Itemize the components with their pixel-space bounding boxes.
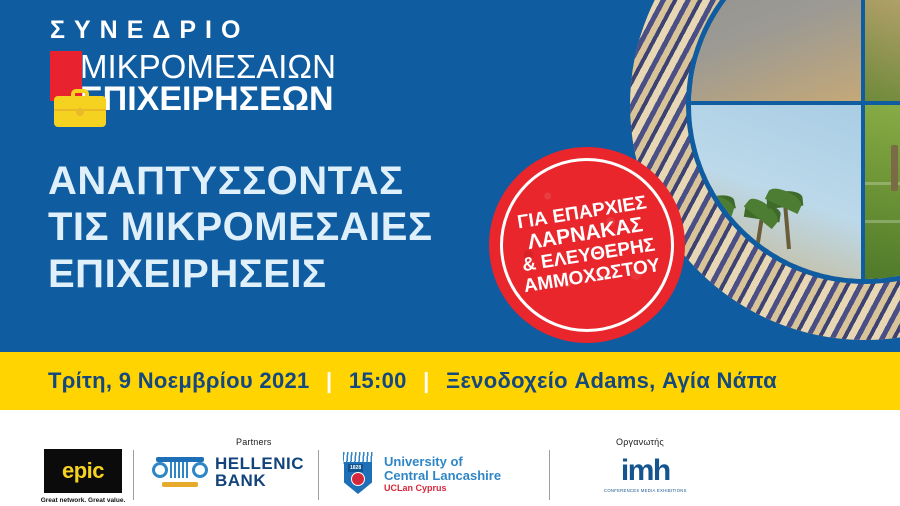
event-details-text: Τρίτη, 9 Νοεμβρίου 2021 | 15:00 | Ξενοδο…	[48, 368, 777, 394]
event-details-bar: Τρίτη, 9 Νοεμβρίου 2021 | 15:00 | Ξενοδο…	[0, 352, 900, 410]
partners-label: Partners	[236, 437, 272, 447]
uclan-line-3: UCLan Cyprus	[384, 484, 501, 494]
palm-trees-sky-photo	[691, 105, 865, 279]
uclan-crest-year: 1828	[348, 464, 363, 472]
hellenic-bank-logo[interactable]: HELLENIC BANK	[152, 455, 304, 489]
conference-logo: ΣΥΝΕΔΡΙΟ ΜΙΚΡΟΜΕΣΑΙΩΝ ΕΠΙΧΕΙΡΗΣΕΩΝ	[50, 18, 336, 116]
epic-tagline: Great network. Great value.	[39, 497, 127, 504]
briefcase-icon	[54, 89, 106, 127]
collage-inner-ring	[686, 0, 900, 284]
footer-divider	[549, 450, 550, 500]
event-poster: ΣΥΝΕΔΡΙΟ ΜΙΚΡΟΜΕΣΑΙΩΝ ΕΠΙΧΕΙΡΗΣΕΩΝ ΑΝΑΠΤ…	[0, 0, 900, 506]
sponsor-footer: Partners Οργανωτής epic Great network. G…	[0, 410, 900, 506]
green-field-fence-photo	[865, 105, 900, 279]
badge-text: ΓΙΑ ΕΠΑΡΧΙΕΣ ΛΑΡΝΑΚΑΣ & ΕΛΕΥΘΕΡΗΣ ΑΜΜΟΧΩ…	[475, 133, 699, 357]
imh-logo[interactable]: imh CONFERENCES MEDIA EXHIBITIONS	[604, 456, 687, 493]
headline-line-2: ΤΙΣ ΜΙΚΡΟΜΕΣΑΙΕΣ	[48, 204, 432, 250]
grey-sky-sand-photo	[691, 0, 865, 105]
page-title: ΑΝΑΠΤΥΣΣΟΝΤΑΣ ΤΙΣ ΜΙΚΡΟΜΕΣΑΙΕΣ ΕΠΙΧΕΙΡΗΣ…	[48, 158, 432, 297]
organizer-label: Οργανωτής	[616, 437, 664, 447]
logo-line-1: ΜΙΚΡΟΜΕΣΑΙΩΝ	[80, 51, 336, 82]
rose-icon	[351, 472, 365, 486]
headline-line-1: ΑΝΑΠΤΥΣΣΟΝΤΑΣ	[48, 158, 432, 204]
windmill-ruins-photo	[865, 0, 900, 105]
region-badge: ΓΙΑ ΕΠΑΡΧΙΕΣ ΛΑΡΝΑΚΑΣ & ΕΛΕΥΘΕΡΗΣ ΑΜΜΟΧΩ…	[489, 147, 685, 343]
uclan-line-2: Central Lancashire	[384, 469, 501, 483]
uclan-line-1: University of	[384, 455, 501, 469]
headline-line-3: ΕΠΙΧΕΙΡΗΣΕΙΣ	[48, 251, 432, 297]
logo-line-2: ΕΠΙΧΕΙΡΗΣΕΩΝ	[80, 82, 336, 116]
imh-tagline: CONFERENCES MEDIA EXHIBITIONS	[604, 488, 687, 494]
hellenic-bank-line-1: HELLENIC	[215, 455, 304, 472]
event-time: 15:00	[349, 368, 407, 393]
details-separator-1: |	[326, 368, 332, 393]
event-date: Τρίτη, 9 Νοεμβρίου 2021	[48, 368, 310, 393]
ionic-column-icon	[152, 457, 208, 487]
imh-wordmark: imh	[604, 456, 687, 486]
uclan-logo[interactable]: 1828 University of Central Lancashire UC…	[340, 452, 501, 496]
event-venue: Ξενοδοχείο Adams, Αγία Νάπα	[446, 368, 777, 393]
hellenic-bank-line-2: BANK	[215, 472, 304, 489]
epic-logo[interactable]: epic Great network. Great value.	[39, 449, 127, 504]
details-separator-2: |	[423, 368, 429, 393]
logo-wordmark: ΜΙΚΡΟΜΕΣΑΙΩΝ ΕΠΙΧΕΙΡΗΣΕΩΝ	[50, 51, 336, 116]
uclan-crest-icon: 1828	[340, 452, 376, 496]
footer-divider	[318, 450, 319, 500]
epic-wordmark: epic	[62, 458, 104, 484]
logo-kicker: ΣΥΝΕΔΡΙΟ	[50, 18, 336, 43]
footer-divider	[133, 450, 134, 500]
